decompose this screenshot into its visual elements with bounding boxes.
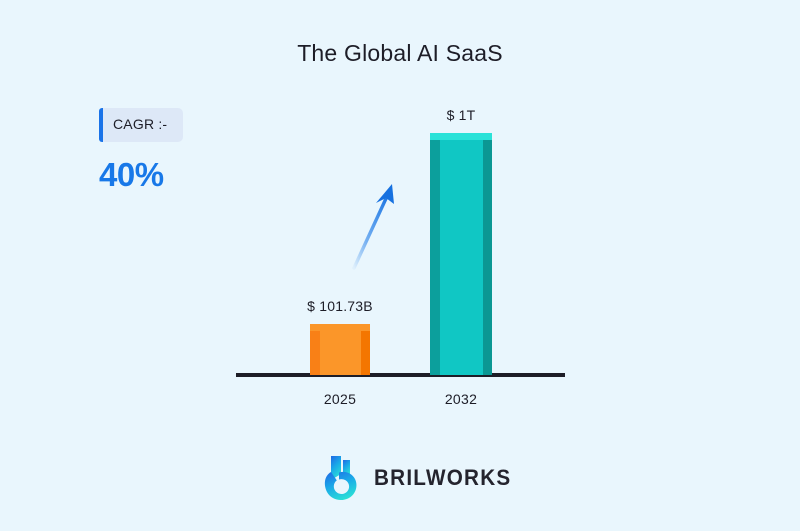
x-axis-label-2032: 2032	[391, 391, 531, 407]
brand-logo: BRILWORKS	[323, 452, 520, 504]
bar-value-label-2032: $ 1T	[391, 107, 531, 123]
x-axis-label-2025: 2025	[270, 391, 410, 407]
bar-2025-left-bevel	[310, 324, 320, 330]
bar-2032-right-face	[483, 133, 492, 375]
bar-2032-left-face	[430, 133, 440, 375]
x-axis-line	[236, 373, 565, 377]
brilworks-b-logomark-icon	[323, 454, 363, 502]
bar-2025-left-face	[310, 324, 320, 375]
bar-2032-left-bevel	[430, 133, 440, 140]
brand-name: BRILWORKS	[374, 465, 511, 491]
bar-2032[interactable]	[430, 133, 492, 375]
bar-value-label-2025: $ 101.73B	[270, 298, 410, 314]
bar-2025-right-face	[361, 324, 370, 375]
bar-2025[interactable]	[310, 324, 370, 375]
bar-2025-right-bevel	[361, 324, 370, 330]
chart-canvas: The Global AI SaaS CAGR :- 40%	[0, 0, 800, 531]
growth-arrow-icon	[345, 178, 405, 273]
bar-2032-right-bevel	[483, 133, 492, 140]
